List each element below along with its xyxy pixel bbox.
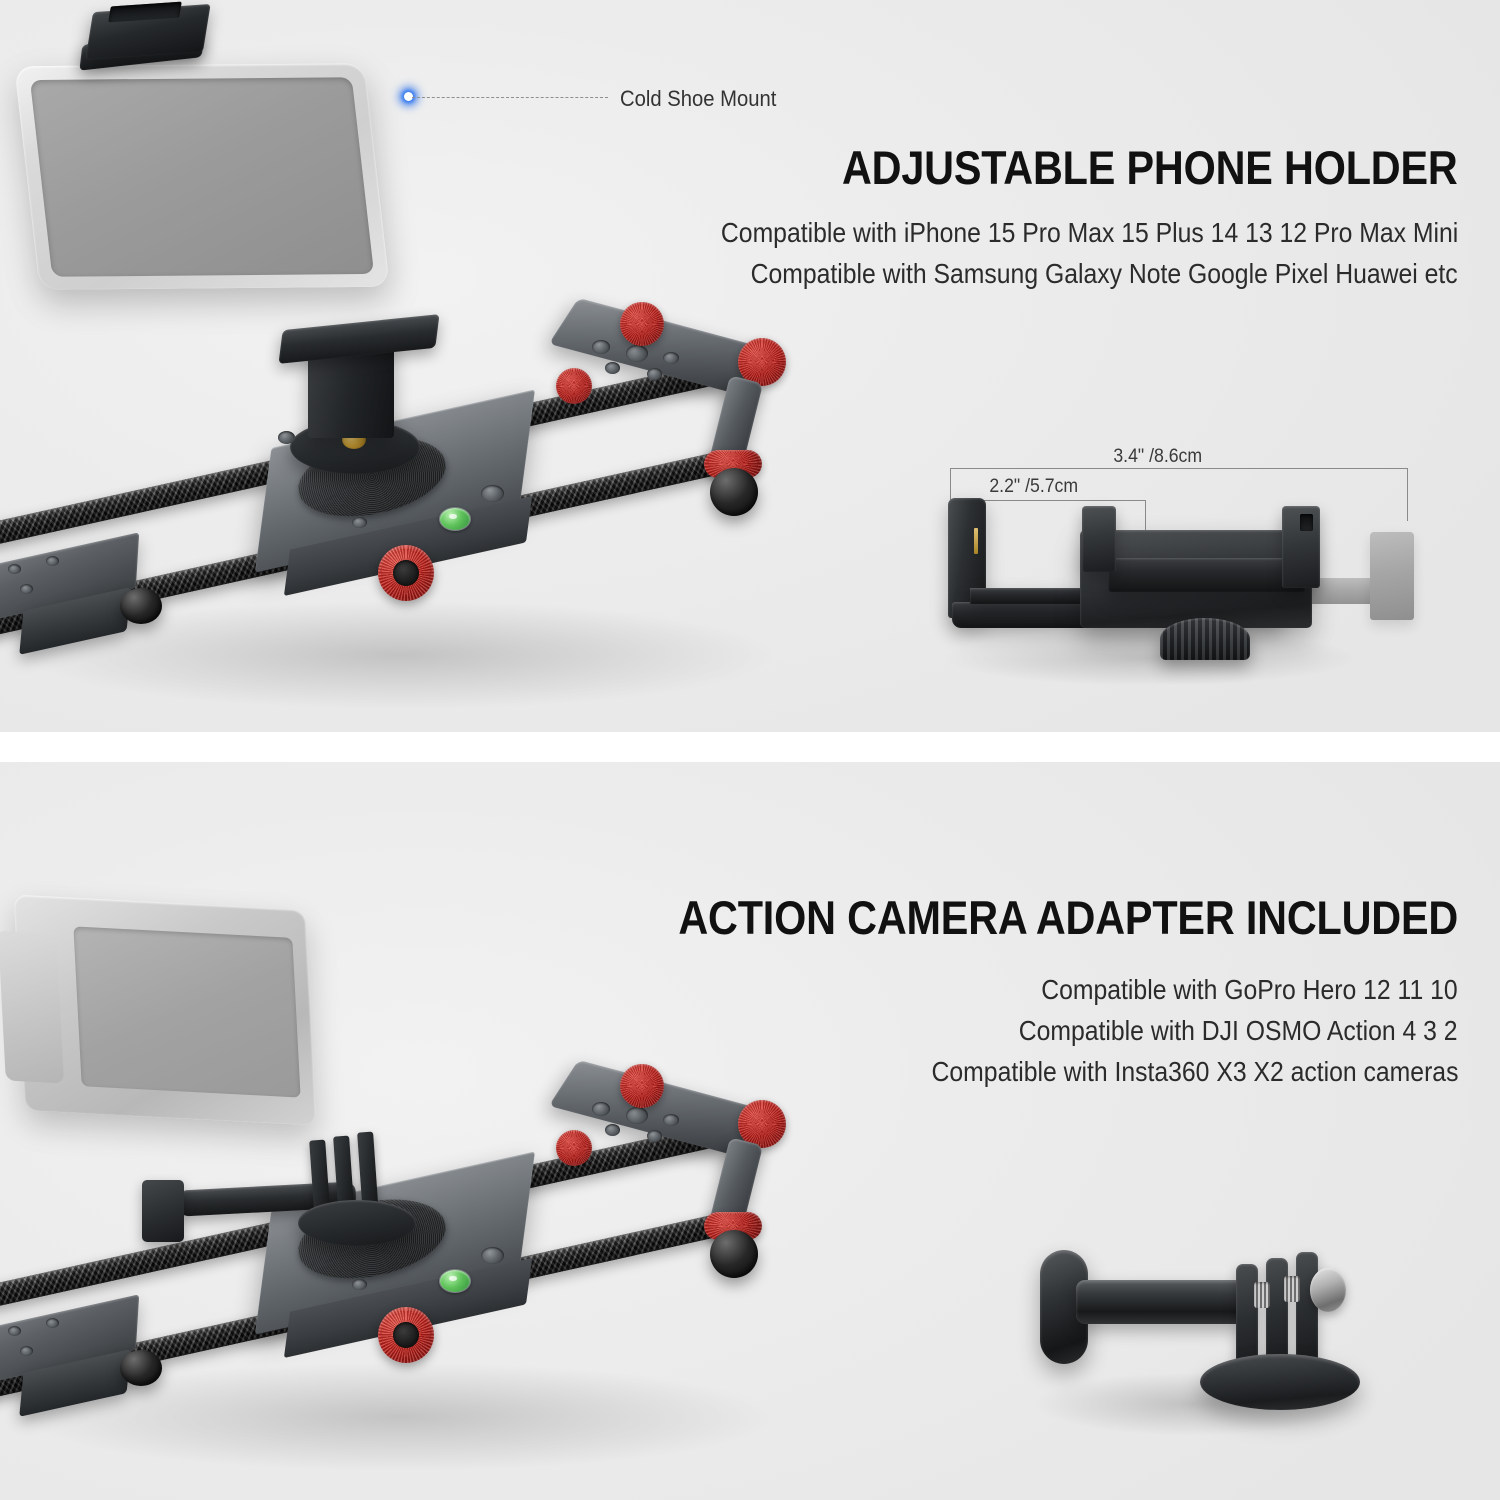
adapter-shaft	[1076, 1280, 1244, 1324]
smartphone-screen	[30, 77, 374, 277]
body-line-phone-2: Compatible with Samsung Galaxy Note Goog…	[751, 258, 1458, 290]
body-line-cam-1: Compatible with GoPro Hero 12 11 10	[1042, 974, 1458, 1006]
holder-hook-gold-detail	[974, 528, 978, 554]
bubble-level-indicator-2	[439, 1269, 471, 1293]
endblock-hole-4	[605, 362, 620, 374]
rail-clamp-ring-back[interactable]	[620, 302, 664, 346]
adapter-bolt-nut	[1310, 1268, 1346, 1312]
action-camera-lens-housing	[0, 931, 64, 1084]
mounted-adapter-base-disc	[298, 1200, 416, 1246]
endblock2-hole-4	[605, 1124, 620, 1136]
endblock-hole-5	[647, 368, 662, 380]
phone-holder-product-diagram: 3.4" /8.6cm 2.2" /5.7cm	[930, 440, 1470, 690]
carriage2-screw-b	[352, 1279, 367, 1290]
slider-ball-foot-left	[120, 588, 162, 624]
holder-left-jaw	[1082, 506, 1116, 572]
endblock-hole-2	[626, 345, 648, 362]
mounted-adapter-thumbwheel	[142, 1180, 184, 1242]
endblock2-hole-2	[626, 1107, 648, 1124]
endblock-hole-1	[592, 340, 610, 354]
endplate-screw-2	[8, 564, 21, 574]
rail-clamp-ring-back-2[interactable]	[620, 1064, 664, 1108]
adapter-prong-3	[1296, 1252, 1318, 1370]
rail-clamp-ring-mid[interactable]	[556, 368, 592, 404]
endplate2-screw-3	[46, 1318, 59, 1328]
dimension-label-inner: 2.2" /5.7cm	[989, 476, 1078, 498]
cold-shoe-leader-line	[412, 97, 608, 98]
endplate-screw-5	[20, 584, 33, 594]
endblock2-hole-1	[592, 1102, 610, 1116]
slider-ball-foot-left-2	[120, 1350, 162, 1386]
carriage2-mount-hole	[481, 1247, 504, 1264]
holder-tripod-thumbscrew[interactable]	[1160, 618, 1250, 660]
section-action-camera: ACTION CAMERA ADAPTER INCLUDED Compatibl…	[0, 762, 1500, 1500]
slider-ball-foot-right-2	[710, 1230, 758, 1278]
adapter-thread-2	[1284, 1276, 1300, 1302]
dimension-label-outer: 3.4" /8.6cm	[1113, 446, 1202, 468]
endplate2-screw-5	[20, 1346, 33, 1356]
carriage-screw-b	[352, 517, 367, 528]
body-line-phone-1: Compatible with iPhone 15 Pro Max 15 Plu…	[721, 217, 1458, 249]
section-divider	[0, 732, 1500, 762]
adapter-thread-1	[1254, 1282, 1270, 1308]
endblock2-hole-3	[663, 1114, 679, 1126]
carriage-lock-knob-2[interactable]	[378, 1307, 434, 1363]
holder-clamp-bridge	[1108, 558, 1306, 592]
headline-phone-holder: ADJUSTABLE PHONE HOLDER	[842, 140, 1458, 195]
action-camera-screen	[73, 926, 300, 1097]
action-camera-adapter-diagram	[1010, 1232, 1390, 1442]
endplate2-screw-2	[8, 1326, 21, 1336]
headline-action-camera: ACTION CAMERA ADAPTER INCLUDED	[678, 890, 1458, 945]
section-phone-holder: ADJUSTABLE PHONE HOLDER Compatible with …	[0, 0, 1500, 732]
bubble-level-indicator	[439, 507, 471, 531]
slider-ball-foot-right	[710, 468, 758, 516]
slider-rig-action-cam	[0, 1062, 860, 1500]
endplate-screw-3	[46, 556, 59, 566]
endblock2-hole-5	[647, 1130, 662, 1142]
body-line-cam-2: Compatible with DJI OSMO Action 4 3 2	[1019, 1015, 1458, 1047]
rail-clamp-ring-mid-2[interactable]	[556, 1130, 592, 1166]
holder-shadow	[940, 630, 1360, 686]
holder-right-jaw-slot	[1300, 514, 1313, 531]
product-infographic: ADJUSTABLE PHONE HOLDER Compatible with …	[0, 0, 1500, 1500]
cold-shoe-callout-label: Cold Shoe Mount	[620, 86, 776, 112]
body-line-cam-3: Compatible with Insta360 X3 X2 action ca…	[931, 1056, 1458, 1088]
slider-rig-phone	[0, 300, 860, 732]
holder-ghost-jaw	[1370, 532, 1414, 620]
endblock-hole-3	[663, 352, 679, 364]
adapter-base-disc	[1200, 1354, 1360, 1410]
carriage-lock-knob[interactable]	[378, 545, 434, 601]
carriage-mount-hole-1	[481, 485, 504, 502]
